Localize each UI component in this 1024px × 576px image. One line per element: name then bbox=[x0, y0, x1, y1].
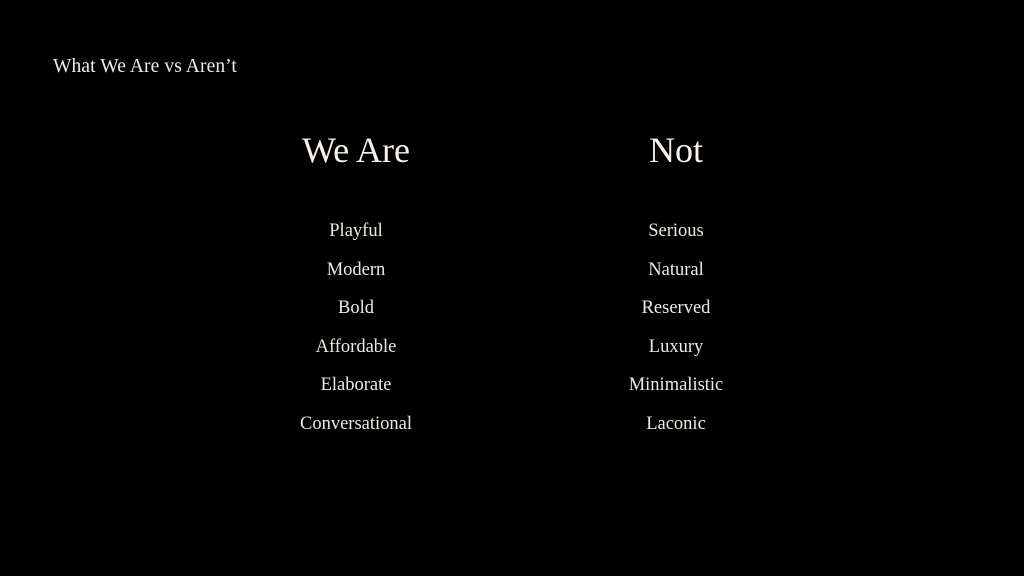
list-item: Elaborate bbox=[276, 366, 436, 405]
list-item: Minimalistic bbox=[596, 366, 756, 405]
column-heading-we-are: We Are bbox=[302, 132, 410, 168]
list-item: Reserved bbox=[596, 289, 756, 328]
page-title: What We Are vs Aren’t bbox=[53, 56, 237, 77]
column-list-we-are: Playful Modern Bold Affordable Elaborate… bbox=[276, 212, 436, 444]
list-item: Modern bbox=[276, 251, 436, 290]
list-item: Playful bbox=[276, 212, 436, 251]
column-list-not: Serious Natural Reserved Luxury Minimali… bbox=[596, 212, 756, 444]
list-item: Affordable bbox=[276, 328, 436, 367]
list-item: Natural bbox=[596, 251, 756, 290]
list-item: Bold bbox=[276, 289, 436, 328]
column-not: Not Serious Natural Reserved Luxury Mini… bbox=[596, 132, 756, 444]
list-item: Conversational bbox=[276, 405, 436, 444]
list-item: Laconic bbox=[596, 405, 756, 444]
column-heading-not: Not bbox=[649, 132, 703, 168]
column-we-are: We Are Playful Modern Bold Affordable El… bbox=[276, 132, 436, 444]
slide-canvas: What We Are vs Aren’t We Are Playful Mod… bbox=[0, 0, 1024, 576]
list-item: Serious bbox=[596, 212, 756, 251]
comparison-columns: We Are Playful Modern Bold Affordable El… bbox=[0, 132, 1024, 444]
list-item: Luxury bbox=[596, 328, 756, 367]
